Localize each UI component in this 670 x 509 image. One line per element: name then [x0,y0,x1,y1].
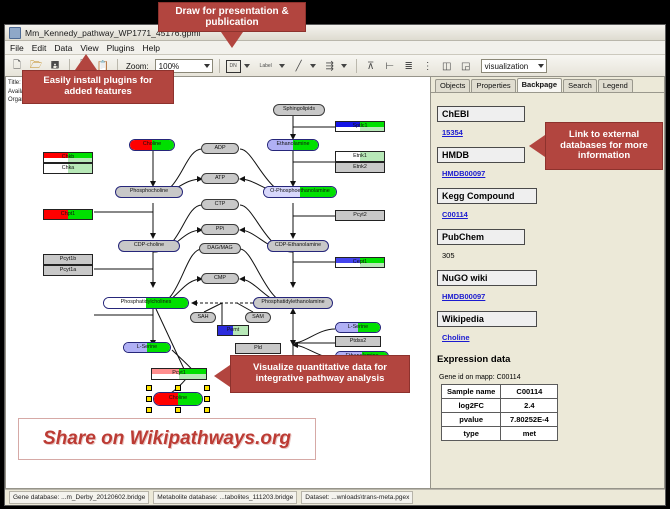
pathway-node-sphingolipids[interactable]: Sphingolipids [273,104,325,116]
pathway-node-label: L-Serine [137,345,157,350]
table-cell-key: type [442,427,501,441]
callout-draw-arrow-icon [221,32,243,48]
pathway-node-label: CMP [214,276,226,281]
pathway-node-sah[interactable]: SAH [190,312,216,323]
backpage-header-chebi: ChEBI [437,106,525,122]
label-icon[interactable]: Label [256,58,276,74]
resize-handle[interactable] [175,385,181,391]
pathway-node-label: Phosphatidylcholines [121,300,172,305]
table-row: typemet [442,427,558,441]
pathway-node-pemt[interactable]: Pemt [217,325,249,336]
chevron-down-icon [204,64,210,68]
callout-visualize: Visualize quantitative data for integrat… [230,355,410,393]
pathway-node-o-phosphoethanolamine[interactable]: O-Phosphoethanolamine [263,186,337,198]
backpage-link-chebi[interactable]: 15354 [442,128,463,137]
backpage-link-kegg-compound[interactable]: C00114 [442,210,468,219]
stack-icon[interactable]: ≣ [401,58,417,74]
screenshot-root: Mm_Kennedy_pathway_WP1771_45176.gpml Fil… [0,0,670,509]
pathway-node-phosphatidylethanolamine[interactable]: Phosphatidylethanolamine [253,297,333,309]
line-icon[interactable]: ╱ [291,58,307,74]
visualization-value: visualization [485,62,529,71]
size-icon[interactable]: ◫ [439,58,455,74]
table-cell-value: C00114 [501,385,558,399]
order-icon[interactable]: ◲ [458,58,474,74]
menu-data[interactable]: Data [54,43,72,53]
callout-links: Link to external databases for more info… [545,122,663,170]
pathway-node-label: Chkb [62,155,75,160]
callout-draw: Draw for presentation & publication [158,2,306,32]
pathway-node-label: PPi [216,227,224,232]
pathway-node-l-serine-left[interactable]: L-Serine [123,342,171,353]
status-bar: Gene database: ...m_Derby_20120602.bridg… [5,489,665,505]
menu-plugins[interactable]: Plugins [107,43,135,53]
pathway-node-label: Choline [169,396,187,401]
pathway-node-ctp[interactable]: CTP [201,199,239,210]
callout-plugins: Easily install plugins for added feature… [22,70,174,104]
pathway-node-label: Chpt1 [61,212,75,217]
datanode-chevron-down-icon[interactable] [244,64,250,68]
share-text: Share on Wikipathways.org [43,428,291,450]
backpage-header-kegg-compound: Kegg Compound [437,188,537,204]
pathway-node-label: Sptlc1 [353,124,368,129]
pathway-node-phosphocholine[interactable]: Phosphocholine [115,186,183,198]
pathway-node-etnk2[interactable]: Etnk2 [335,162,385,173]
app-icon [9,27,21,39]
backpage-value-pubchem: 305 [442,251,455,260]
tab-properties[interactable]: Properties [471,79,515,92]
table-cell-value: met [501,427,558,441]
pathway-node-label: Chka [62,166,75,171]
pathway-node-label: Etnk2 [353,165,367,170]
backpage-header-pubchem: PubChem [437,229,525,245]
backpage-header-nugo-wiki: NuGO wiki [437,270,537,286]
table-row: Sample nameC00114 [442,385,558,399]
menu-help[interactable]: Help [143,43,160,53]
pathway-node-cept1[interactable]: Cept1 [335,257,385,268]
pathway-node-label: L-Serine [348,325,368,330]
pathway-node-label: Phosphatidylethanolamine [261,300,324,305]
pathway-node-pcyt1a[interactable]: Pcyt1a [43,265,93,276]
distribute-icon[interactable]: ⋮ [420,58,436,74]
anchor-icon[interactable]: ⇶ [322,58,338,74]
menu-file[interactable]: File [10,43,24,53]
table-cell-key: pvalue [442,413,501,427]
table-row: log2FC2.4 [442,399,558,413]
pathway-node-choline-selected[interactable]: Choline [153,392,203,406]
resize-handle[interactable] [146,396,152,402]
pathway-node-ethanolamine-top[interactable]: Ethanolamine [267,139,319,151]
side-panel-tabs: Objects Properties Backpage Search Legen… [431,77,664,93]
status-gene-database: Gene database: ...m_Derby_20120602.bridg… [9,491,149,504]
expression-data-heading: Expression data [437,354,656,365]
backpage-entry: C00114 [437,204,656,222]
pathway-node-dag-mag[interactable]: DAG/MAG [199,243,241,254]
pathway-node-label: Pcyt1a [60,268,76,273]
label-chevron-down-icon[interactable] [279,64,285,68]
backpage-entry: Choline [437,327,656,345]
menu-edit[interactable]: Edit [32,43,47,53]
tab-search[interactable]: Search [563,79,597,92]
pathway-node-sptlc1[interactable]: Sptlc1 [335,121,385,132]
pathway-node-pcyt1[interactable]: Pcyt1 [151,368,207,380]
pathway-node-etnk1[interactable]: Etnk1 [335,151,385,162]
pathway-node-label: Ptdss2 [350,339,366,344]
pathway-node-label: ADP [214,146,225,151]
tab-objects[interactable]: Objects [435,79,470,92]
pathway-node-pcyt1b[interactable]: Pcyt1b [43,254,93,265]
pathway-node-label: Pld [254,346,262,351]
resize-handle[interactable] [204,407,210,413]
pathway-node-label: Cept1 [353,260,367,265]
backpage-entry: HMDB00097 [437,286,656,304]
gene-id-line: Gene id on mapp: C00114 [439,374,656,381]
pathway-node-phosphatidylcholines[interactable]: Phosphatidylcholines [103,297,189,309]
pathway-node-ppi[interactable]: PPi [201,224,239,235]
pathway-node-label: ATP [215,176,225,181]
pathway-node-label: CTP [215,202,226,207]
visualization-combo[interactable]: visualization [481,59,547,73]
pathway-node-label: Phosphocholine [130,189,168,194]
pathway-node-label: Ethanolamine [277,142,310,147]
resize-handle[interactable] [146,385,152,391]
toolbar-separator-4 [356,59,357,73]
pathway-node-cdp-choline[interactable]: CDP-choline [118,240,180,252]
pathway-node-cdp-ethanolamine[interactable]: CDP-Ethanolamine [267,240,329,252]
pathway-node-label: Pemt [227,328,240,333]
callout-share: Share on Wikipathways.org [18,418,316,460]
table-cell-value: 7.80252E-4 [501,413,558,427]
pathway-node-label: Pcyt1b [60,257,76,262]
pathway-node-label: Pcyt2 [353,213,366,218]
menu-view[interactable]: View [80,43,98,53]
align-top-icon[interactable]: ⊼ [363,58,379,74]
pathway-node-ptdss2[interactable]: Ptdss2 [335,336,381,347]
anchor-chevron-down-icon[interactable] [341,64,347,68]
resize-handle[interactable] [204,385,210,391]
status-dataset: Dataset: ...wnloads\trans-meta.pgex [301,491,413,504]
status-metabolite-database: Metabolite database: ...tabolites_111203… [153,491,297,504]
title-bar: Mm_Kennedy_pathway_WP1771_45176.gpml [5,25,665,41]
datanode-icon[interactable]: DN [226,60,241,73]
backpage-header-wikipedia: Wikipedia [437,311,537,327]
chevron-down-icon [538,64,544,68]
pathway-node-atp[interactable]: ATP [201,173,239,184]
pathway-node-adp[interactable]: ADP [201,143,239,154]
resize-handle[interactable] [175,407,181,413]
pathway-node-label: Choline [143,142,161,147]
pathway-node-label: O-Phosphoethanolamine [270,189,330,194]
pathway-node-label: Pcyt1 [172,371,185,376]
pathway-node-label: Sphingolipids [283,107,315,112]
table-cell-key: Sample name [442,385,501,399]
pathway-node-label: SAM [252,315,264,320]
expression-table: Sample nameC00114log2FC2.4pvalue7.80252E… [441,384,558,441]
backpage-link-wikipedia[interactable]: Choline [442,333,470,342]
align-left-icon[interactable]: ⊢ [382,58,398,74]
pathway-node-label: DAG/MAG [207,246,232,251]
pathway-node-chka[interactable]: Chka [43,163,93,174]
pathway-node-label: Etnk1 [353,154,367,159]
pathway-node-label: SAH [197,315,208,320]
backpage-link-nugo-wiki[interactable]: HMDB00097 [442,292,485,301]
resize-handle[interactable] [146,407,152,413]
backpage-header-hmdb: HMDB [437,147,525,163]
callout-plugins-arrow-icon [75,54,97,70]
table-row: pvalue7.80252E-4 [442,413,558,427]
line-chevron-down-icon[interactable] [310,64,316,68]
tab-backpage[interactable]: Backpage [517,78,562,92]
pathway-node-chpt1[interactable]: Chpt1 [43,209,93,220]
pathway-node-l-serine-right[interactable]: L-Serine [335,322,381,333]
pathway-node-pld[interactable]: Pld [235,343,281,354]
backpage-link-hmdb[interactable]: HMDB00097 [442,169,485,178]
menu-bar: File Edit Data View Plugins Help [5,41,665,55]
pathway-node-label: CDP-Ethanolamine [275,243,321,248]
pathway-node-cmp[interactable]: CMP [201,273,239,284]
resize-handle[interactable] [204,396,210,402]
pathway-node-chkb[interactable]: Chkb [43,152,93,163]
pathway-node-pcyt2[interactable]: Pcyt2 [335,210,385,221]
pathway-node-sam[interactable]: SAM [245,312,271,323]
table-cell-value: 2.4 [501,399,558,413]
pathway-node-choline-top[interactable]: Choline [129,139,175,151]
callout-links-arrow-icon [529,135,545,157]
backpage-entry: 305 [437,245,656,263]
table-cell-key: log2FC [442,399,501,413]
tab-legend[interactable]: Legend [598,79,633,92]
callout-visualize-arrow-icon [214,365,230,387]
pathway-node-label: CDP-choline [134,243,164,248]
toolbar-separator-3 [219,59,220,73]
